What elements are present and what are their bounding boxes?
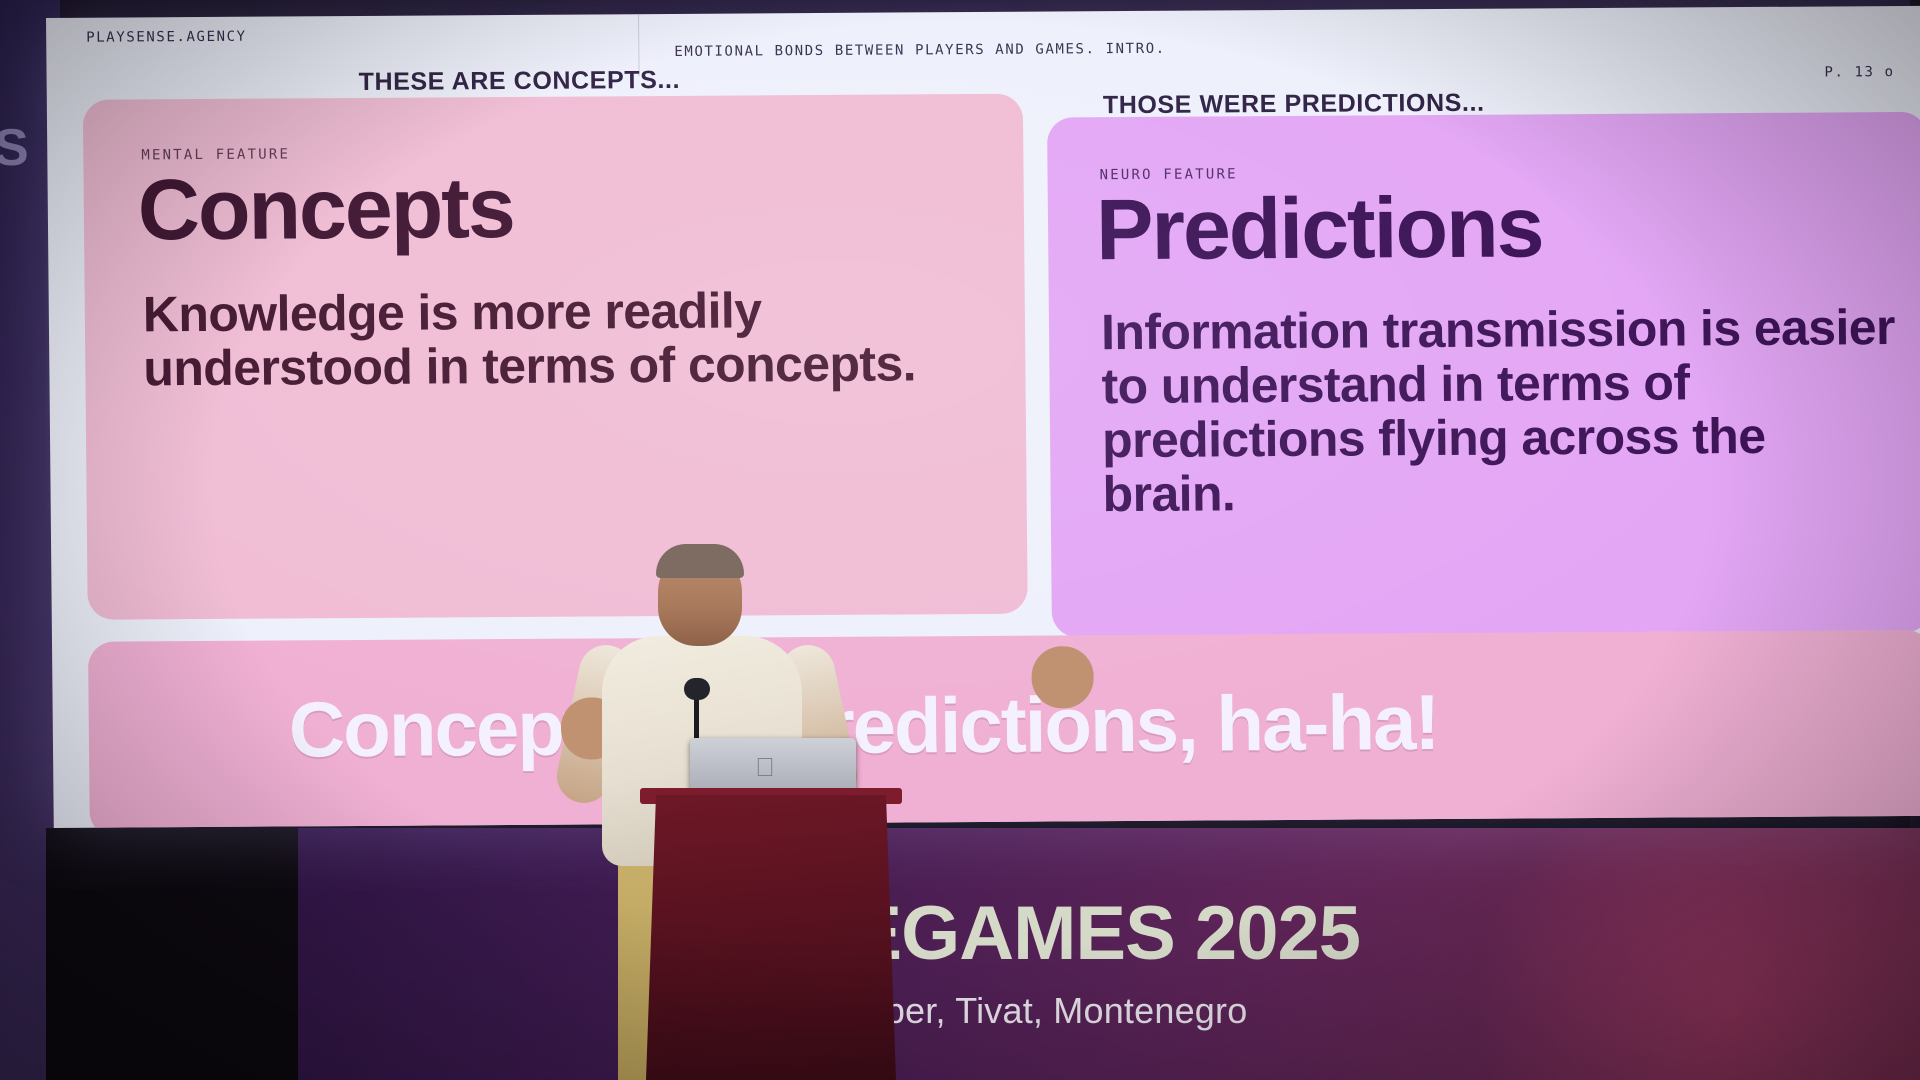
slide-brand-label: PLAYSENSE.AGENCY [86, 29, 247, 46]
card-predictions: NEURO FEATURE Predictions Information tr… [1047, 112, 1920, 638]
slide-running-title: EMOTIONAL BONDS BETWEEN PLAYERS AND GAME… [674, 41, 1166, 60]
card-concepts-body: Knowledge is more readily understood in … [143, 282, 964, 395]
photo-of-conference-stage: S TEGAMES 2025 October, Tivat, Montenegr… [0, 0, 1920, 1080]
speaker-hair [656, 544, 744, 578]
slide-page-marker: P. 13 o [1824, 64, 1894, 80]
card-predictions-body: Information transmission is easier to un… [1101, 300, 1903, 521]
conference-branding-bar: TEGAMES 2025 October, Tivat, Montenegro [46, 828, 1920, 1080]
card-concepts: MENTAL FEATURE Concepts Knowledge is mor… [83, 94, 1028, 620]
bar-left-shadow [46, 828, 298, 1080]
card-predictions-title: Predictions [1096, 184, 1543, 273]
podium [646, 795, 896, 1080]
microphone-head [684, 678, 710, 700]
card-concepts-title: Concepts [137, 165, 514, 253]
left-panel-glyph: S [0, 118, 28, 178]
projected-slide: PLAYSENSE.AGENCY EMOTIONAL BONDS BETWEEN… [46, 6, 1920, 828]
apple-logo-icon:  [752, 754, 778, 784]
card-punchline-banner: Concepts are predictions, ha-ha! [88, 630, 1920, 828]
kicker-concepts: THESE ARE CONCEPTS... [358, 66, 680, 97]
